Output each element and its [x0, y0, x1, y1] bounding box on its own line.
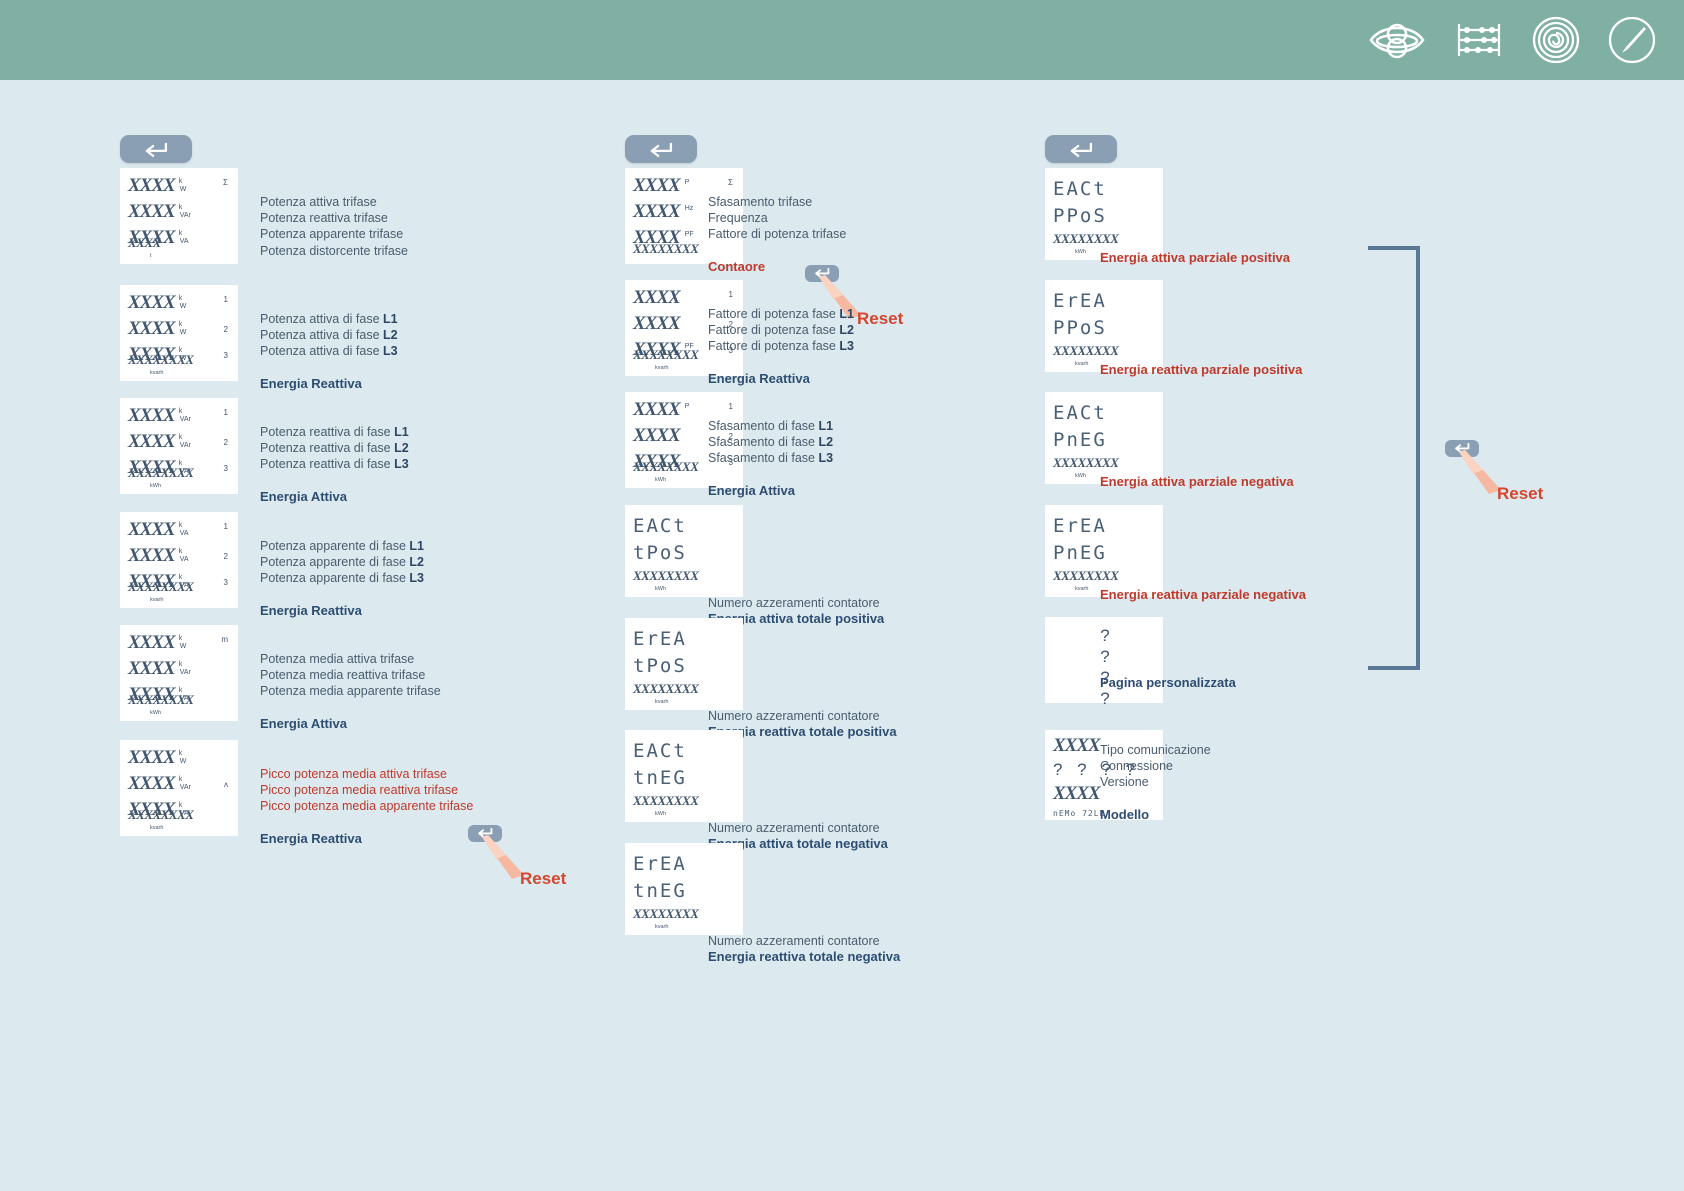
lcd-unit: PF [684, 230, 694, 238]
lcd-total-row: XXXXXXXXkWh [128, 463, 193, 489]
lcd-total-digits: XXXXXXXX [633, 906, 698, 921]
caption-block: Picco potenza media attiva trifasePicco … [260, 766, 473, 847]
lcd-value-row: XXXXkVAr [128, 202, 232, 228]
lcd-index: 1 [224, 522, 228, 531]
lcd-value-row: XXXXkVA2 [128, 546, 232, 572]
lcd-index: 2 [224, 325, 228, 334]
caption-line: Tipo comunicazione [1100, 742, 1211, 758]
reset-label: Reset [520, 869, 566, 889]
caption-line: Potenza apparente di fase L1 [260, 538, 424, 554]
caption-line: Numero azzeramenti contatore [708, 933, 900, 949]
phase-label: L1 [818, 419, 833, 433]
caption-line: Potenza attiva di fase L1 [260, 311, 398, 327]
caption-line: Energia Reattiva [260, 831, 473, 847]
lcd-value-row: XXXXkW1 [128, 293, 232, 319]
caption-block: Energia attiva parziale negativa [1100, 474, 1294, 490]
lcd-seg-line1: ErEA [1053, 513, 1157, 540]
lcd-total-row: XXXXXXXXkvarh [633, 679, 698, 705]
caption-line: Fattore di potenza fase L1 [708, 306, 854, 322]
lcd-unit: kW [179, 750, 187, 765]
lcd-total-digits: XXXXXXXX [633, 241, 698, 256]
caption-block: Numero azzeramenti contatoreEnergia reat… [708, 843, 900, 965]
lcd-total-unit: kWh [150, 710, 193, 716]
lcd-display-segment[interactable]: EACtPnEGXXXXXXXXkWh [1045, 392, 1163, 484]
lcd-total-digits: XXXXXXXX [633, 459, 698, 474]
reset-control-group: Reset [468, 825, 502, 842]
lcd-total-row: XXXXXXXX [633, 239, 698, 259]
menu-entry: EACtPPoSXXXXXXXXkWh [1045, 168, 1163, 260]
caption-line: Potenza media reattiva trifase [260, 667, 441, 683]
caption-line: Sfasamento di fase L2 [708, 434, 833, 450]
lcd-display[interactable]: XXXXkWXXXXkVArʌXXXXkVAXXXXXXXXkvarh [120, 740, 238, 836]
lcd-display-segment[interactable]: EACtPPoSXXXXXXXXkWh [1045, 168, 1163, 260]
lcd-value-row: XXXXkVA1 [128, 520, 232, 546]
reset-control-group: Reset [805, 265, 839, 282]
lcd-display[interactable]: XXXXkW1XXXXkW2XXXXkW3XXXXXXXXkvarh [120, 285, 238, 381]
lcd-digits: XXXX [128, 176, 175, 196]
caption-block: Numero azzeramenti contatoreEnergia reat… [708, 618, 897, 740]
lcd-seg-line2: PPoS [1053, 315, 1157, 342]
phase-label: L2 [383, 328, 398, 342]
lcd-digits: XXXX [128, 319, 175, 339]
caption-line: Energia Reattiva [708, 371, 854, 387]
lcd-seg-line2: PnEG [1053, 540, 1157, 567]
lcd-total-row: XXXXXXXXkWh [633, 566, 698, 592]
lcd-total-row: XXXXXXXXkvarh [633, 904, 698, 930]
lcd-total-unit: kvarh [150, 370, 193, 376]
phase-label: L1 [394, 425, 409, 439]
phase-label: L1 [839, 307, 854, 321]
phase-label: L1 [409, 539, 424, 553]
caption-line: Versione [1100, 774, 1211, 790]
enter-key-button[interactable] [1045, 135, 1117, 163]
lcd-index: 3 [224, 464, 228, 473]
lcd-display[interactable]: XXXXkWΣXXXXkVArXXXXkVAXXXXt [120, 168, 238, 264]
menu-entry: ErEAPPoSXXXXXXXXkvarh [1045, 280, 1163, 372]
caption-line: Energia reattiva parziale positiva [1100, 362, 1302, 378]
caption-line: Pagina personalizzata [1100, 675, 1236, 691]
caption-line: Potenza reattiva di fase L1 [260, 424, 409, 440]
lcd-total-row: XXXXXXXXkWh [633, 457, 698, 483]
lcd-total-unit: kWh [655, 477, 698, 483]
caption-block: Energia reattiva parziale positiva [1100, 362, 1302, 378]
caption-line: Potenza media attiva trifase [260, 651, 441, 667]
lcd-value-row: XXXXkVAr2 [128, 432, 232, 458]
lcd-digits: XXXX [633, 426, 680, 446]
menu-entry: XXXXkWΣXXXXkVArXXXXkVAXXXXt [120, 168, 238, 264]
caption-line: Sfasamento di fase L1 [708, 418, 833, 434]
lcd-total-unit: kvarh [655, 365, 698, 371]
lcd-display-segment[interactable]: ErEAPnEGXXXXXXXXkvarh [1045, 505, 1163, 597]
caption-line: Potenza distorcente trifase [260, 243, 408, 259]
lcd-digits: XXXX [128, 202, 175, 222]
lcd-unit: kW [179, 635, 187, 650]
enter-key-button[interactable] [625, 135, 697, 163]
menu-entry: XXXXkW1XXXXkW2XXXXkW3XXXXXXXXkvarh [120, 285, 238, 381]
lcd-total-unit: kWh [150, 483, 193, 489]
lcd-total-unit: kWh [655, 586, 698, 592]
lcd-unit: kVA [179, 230, 189, 245]
caption-line: Potenza apparente di fase L3 [260, 570, 424, 586]
lcd-unit: kVAr [179, 776, 191, 791]
caption-line: Modello [1100, 807, 1211, 823]
caption-block: Potenza media attiva trifasePotenza medi… [260, 651, 441, 732]
lcd-unit: kVAr [179, 204, 191, 219]
caption-line: Numero azzeramenti contatore [708, 595, 884, 611]
lcd-total-digits: XXXXXXXX [128, 692, 193, 707]
lcd-index: 3 [224, 578, 228, 587]
lcd-total-unit: kvarh [150, 825, 193, 831]
lcd-digits: XXXX [128, 546, 175, 566]
lcd-digits: XXXX [128, 748, 175, 768]
lcd-seg-line1: EACt [1053, 176, 1157, 203]
lcd-unit: kVA [179, 522, 189, 537]
caption-block: Potenza attiva di fase L1Potenza attiva … [260, 311, 398, 392]
caption-line: Energia reattiva totale negativa [708, 949, 900, 965]
lcd-digits: XXXX [633, 202, 680, 222]
caption-line: Potenza reattiva trifase [260, 210, 408, 226]
phase-label: L2 [394, 441, 409, 455]
menu-entry: XXXXkVAr1XXXXkVAr2XXXXkVAr3XXXXXXXXkWh [120, 398, 238, 494]
phase-label: L2 [818, 435, 833, 449]
lcd-total-row: XXXXXXXXkvarh [128, 577, 193, 603]
lcd-total-digits: XXXXXXXX [128, 465, 193, 480]
lcd-digits: XXXX [128, 406, 175, 426]
lcd-value-row: XXXXkVAr [128, 659, 232, 685]
lcd-value-row: XXXXkWΣ [128, 176, 232, 202]
phase-label: L3 [409, 571, 424, 585]
phase-label: L1 [383, 312, 398, 326]
lcd-total-digits: XXXXXXXX [633, 793, 698, 808]
lcd-unit: kW [179, 321, 187, 336]
caption-line: Fattore di potenza fase L3 [708, 338, 854, 354]
caption-line: Frequenza [708, 210, 846, 226]
lcd-unit: kW [179, 295, 187, 310]
caption-line: Picco potenza media attiva trifase [260, 766, 473, 782]
menu-entry: ErEAPnEGXXXXXXXXkvarh [1045, 505, 1163, 597]
caption-line: Picco potenza media reattiva trifase [260, 782, 473, 798]
lcd-index: 3 [224, 351, 228, 360]
lcd-display[interactable]: XXXXkVAr1XXXXkVAr2XXXXkVAr3XXXXXXXXkWh [120, 398, 238, 494]
lcd-total-unit: kvarh [655, 699, 698, 705]
lcd-value-row: XXXXkVAr1 [128, 406, 232, 432]
menu-entry: XXXXkVA1XXXXkVA2XXXXkVA3XXXXXXXXkvarh [120, 512, 238, 608]
lcd-total-row: XXXXXXXXkvarh [128, 350, 193, 376]
caption-line: Energia Attiva [708, 483, 833, 499]
lcd-digits: XXXX [128, 432, 175, 452]
bracket-reset-control-group: Reset [1445, 440, 1479, 457]
lcd-unit: kW [179, 178, 187, 193]
lcd-total-digits: XXXXXXXX [633, 568, 698, 583]
lcd-total-row: XXXXXXXXkWh [633, 791, 698, 817]
lcd-digits: XXXX [633, 314, 680, 334]
lcd-value-row: XXXXkW [128, 748, 232, 774]
phase-label: L3 [818, 451, 833, 465]
menu-entry: XXXXkWXXXXkVArʌXXXXkVAXXXXXXXXkvarh [120, 740, 238, 836]
page-header [0, 0, 1684, 80]
lcd-seg-line1: ErEA [1053, 288, 1157, 315]
caption-line: Energia attiva parziale negativa [1100, 474, 1294, 490]
phase-label: L2 [839, 323, 854, 337]
lcd-digits: XXXX [633, 400, 680, 420]
abacus-icon[interactable] [1454, 18, 1504, 62]
enter-arrow-icon [644, 141, 678, 158]
lcd-index: Σ [223, 178, 228, 187]
lcd-unit: kVAr [179, 434, 191, 449]
caption-line: Potenza media apparente trifase [260, 683, 441, 699]
enter-arrow-icon [139, 141, 173, 158]
caption-block: Pagina personalizzata [1100, 675, 1236, 691]
lcd-value-row: XXXXkWm [128, 633, 232, 659]
lcd-index: 1 [224, 295, 228, 304]
caption-line: Fattore di potenza fase L2 [708, 322, 854, 338]
reset-label: Reset [857, 309, 903, 329]
lcd-seg-line2: PPoS [1053, 203, 1157, 230]
lcd-display[interactable]: XXXXkWmXXXXkVArXXXXkVAXXXXXXXXkWh [120, 625, 238, 721]
lcd-unit: kVA [179, 548, 189, 563]
lcd-index: 1 [729, 290, 733, 299]
caption-line: Potenza apparente di fase L2 [260, 554, 424, 570]
caption-line: Energia Attiva [260, 489, 409, 505]
partial-energy-bracket [1368, 246, 1420, 670]
lcd-digits: XXXX [633, 288, 680, 308]
reset-label: Reset [1497, 484, 1543, 504]
caption-block: Sfasamento di fase L1Sfasamento di fase … [708, 418, 833, 499]
lcd-value-row: XXXXkVArʌ [128, 774, 232, 800]
caption-line: Potenza reattiva di fase L3 [260, 456, 409, 472]
lcd-seg-line1: EACt [1053, 400, 1157, 427]
caption-block: Potenza reattiva di fase L1Potenza reatt… [260, 424, 409, 505]
lcd-placeholder-row: ? [1053, 646, 1157, 667]
enter-key-button[interactable] [120, 135, 192, 163]
lcd-total-digits: XXXXXXXX [128, 807, 193, 822]
lcd-total-digits: XXXX [128, 235, 161, 250]
caption-line: Energia Reattiva [260, 376, 398, 392]
lcd-display[interactable]: XXXXkVA1XXXXkVA2XXXXkVA3XXXXXXXXkvarh [120, 512, 238, 608]
lcd-placeholder-row: ? [1053, 625, 1157, 646]
caption-line: Energia Reattiva [260, 603, 424, 619]
eye-globe-icon[interactable] [1368, 17, 1426, 63]
lcd-index: m [221, 635, 228, 644]
menu-entry: XXXXkWmXXXXkVArXXXXkVAXXXXXXXXkWh [120, 625, 238, 721]
caption-block: Numero azzeramenti contatoreEnergia atti… [708, 730, 888, 852]
lcd-unit: P [684, 178, 690, 186]
lcd-digits: XXXX [128, 659, 175, 679]
caption-line: Energia reattiva parziale negativa [1100, 587, 1306, 603]
lcd-index: 1 [729, 402, 733, 411]
lcd-total-unit: t [150, 253, 161, 259]
lcd-value-row: XXXXkW2 [128, 319, 232, 345]
enter-arrow-icon [1064, 141, 1098, 158]
phase-label: L2 [409, 555, 424, 569]
lcd-total-unit: kvarh [655, 924, 698, 930]
caption-line: Numero azzeramenti contatore [708, 708, 897, 724]
lcd-digits: XXXX [128, 520, 175, 540]
lcd-total-digits: XXXXXXXX [633, 681, 698, 696]
lcd-total-digits: XXXXXXXX [1053, 231, 1118, 246]
lcd-total-row: XXXXXXXXkvarh [633, 345, 698, 371]
caption-line: Energia attiva parziale positiva [1100, 250, 1290, 266]
lcd-total-digits: XXXXXXXX [1053, 343, 1118, 358]
phase-label: L3 [839, 339, 854, 353]
lcd-total-digits: XXXXXXXX [1053, 455, 1118, 470]
header-icon-group [1368, 0, 1656, 80]
caption-line: Sfasamento trifase [708, 194, 846, 210]
lcd-index: ʌ [224, 780, 228, 789]
lcd-index: 2 [224, 438, 228, 447]
caption-line: Potenza attiva di fase L2 [260, 327, 398, 343]
caption-block: Energia attiva parziale positiva [1100, 250, 1290, 266]
lcd-unit: P [684, 402, 690, 410]
caption-line: Potenza attiva di fase L3 [260, 343, 398, 359]
caption-line: Potenza attiva trifase [260, 194, 408, 210]
caption-line: Potenza reattiva di fase L2 [260, 440, 409, 456]
phase-label: L3 [383, 344, 398, 358]
caption-block: Fattore di potenza fase L1Fattore di pot… [708, 306, 854, 387]
lcd-total-row: XXXXXXXXkvarh [128, 805, 193, 831]
lcd-total-digits: XXXXXXXX [128, 579, 193, 594]
caption-line: Connessione [1100, 758, 1211, 774]
caption-line: Energia Attiva [260, 716, 441, 732]
lcd-digits: XXXX [128, 633, 175, 653]
lcd-digits: XXXX [128, 293, 175, 313]
caption-block: Numero azzeramenti contatoreEnergia atti… [708, 505, 884, 627]
caption-block: Energia reattiva parziale negativa [1100, 587, 1306, 603]
caption-line: Picco potenza media apparente trifase [260, 798, 473, 814]
lcd-index: 2 [224, 552, 228, 561]
lcd-total-row: XXXXt [128, 233, 161, 259]
compass-navigation-icon[interactable] [1608, 16, 1656, 64]
caption-block: Potenza attiva trifasePotenza reattiva t… [260, 194, 408, 259]
lcd-total-digits: XXXXXXXX [1053, 568, 1118, 583]
lcd-index: 1 [224, 408, 228, 417]
spiral-target-icon[interactable] [1532, 16, 1580, 64]
lcd-total-digits: XXXXXXXX [633, 347, 698, 362]
caption-block: Tipo comunicazioneConnessioneVersioneMod… [1100, 742, 1211, 823]
lcd-digits: XXXX [128, 774, 175, 794]
lcd-unit: kVAr [179, 408, 191, 423]
caption-line: Sfasamento di fase L3 [708, 450, 833, 466]
lcd-display-segment[interactable]: ErEAPPoSXXXXXXXXkvarh [1045, 280, 1163, 372]
phase-label: L3 [394, 457, 409, 471]
lcd-total-unit: kvarh [150, 597, 193, 603]
lcd-digits: XXXX [633, 176, 680, 196]
menu-entry: EACtPnEGXXXXXXXXkWh [1045, 392, 1163, 484]
caption-block: Sfasamento trifaseFrequenzaFattore di po… [708, 194, 846, 275]
lcd-index: Σ [728, 178, 733, 187]
lcd-total-unit: kWh [655, 811, 698, 817]
lcd-total-digits: XXXXXXXX [128, 352, 193, 367]
lcd-total-row: XXXXXXXXkWh [128, 690, 193, 716]
caption-line: Potenza apparente trifase [260, 226, 408, 242]
lcd-unit: kVAr [179, 661, 191, 676]
lcd-seg-line2: PnEG [1053, 427, 1157, 454]
lcd-unit: Hz [684, 204, 694, 212]
caption-line: Numero azzeramenti contatore [708, 820, 888, 836]
caption-block: Potenza apparente di fase L1Potenza appa… [260, 538, 424, 619]
caption-line: Fattore di potenza trifase [708, 226, 846, 242]
